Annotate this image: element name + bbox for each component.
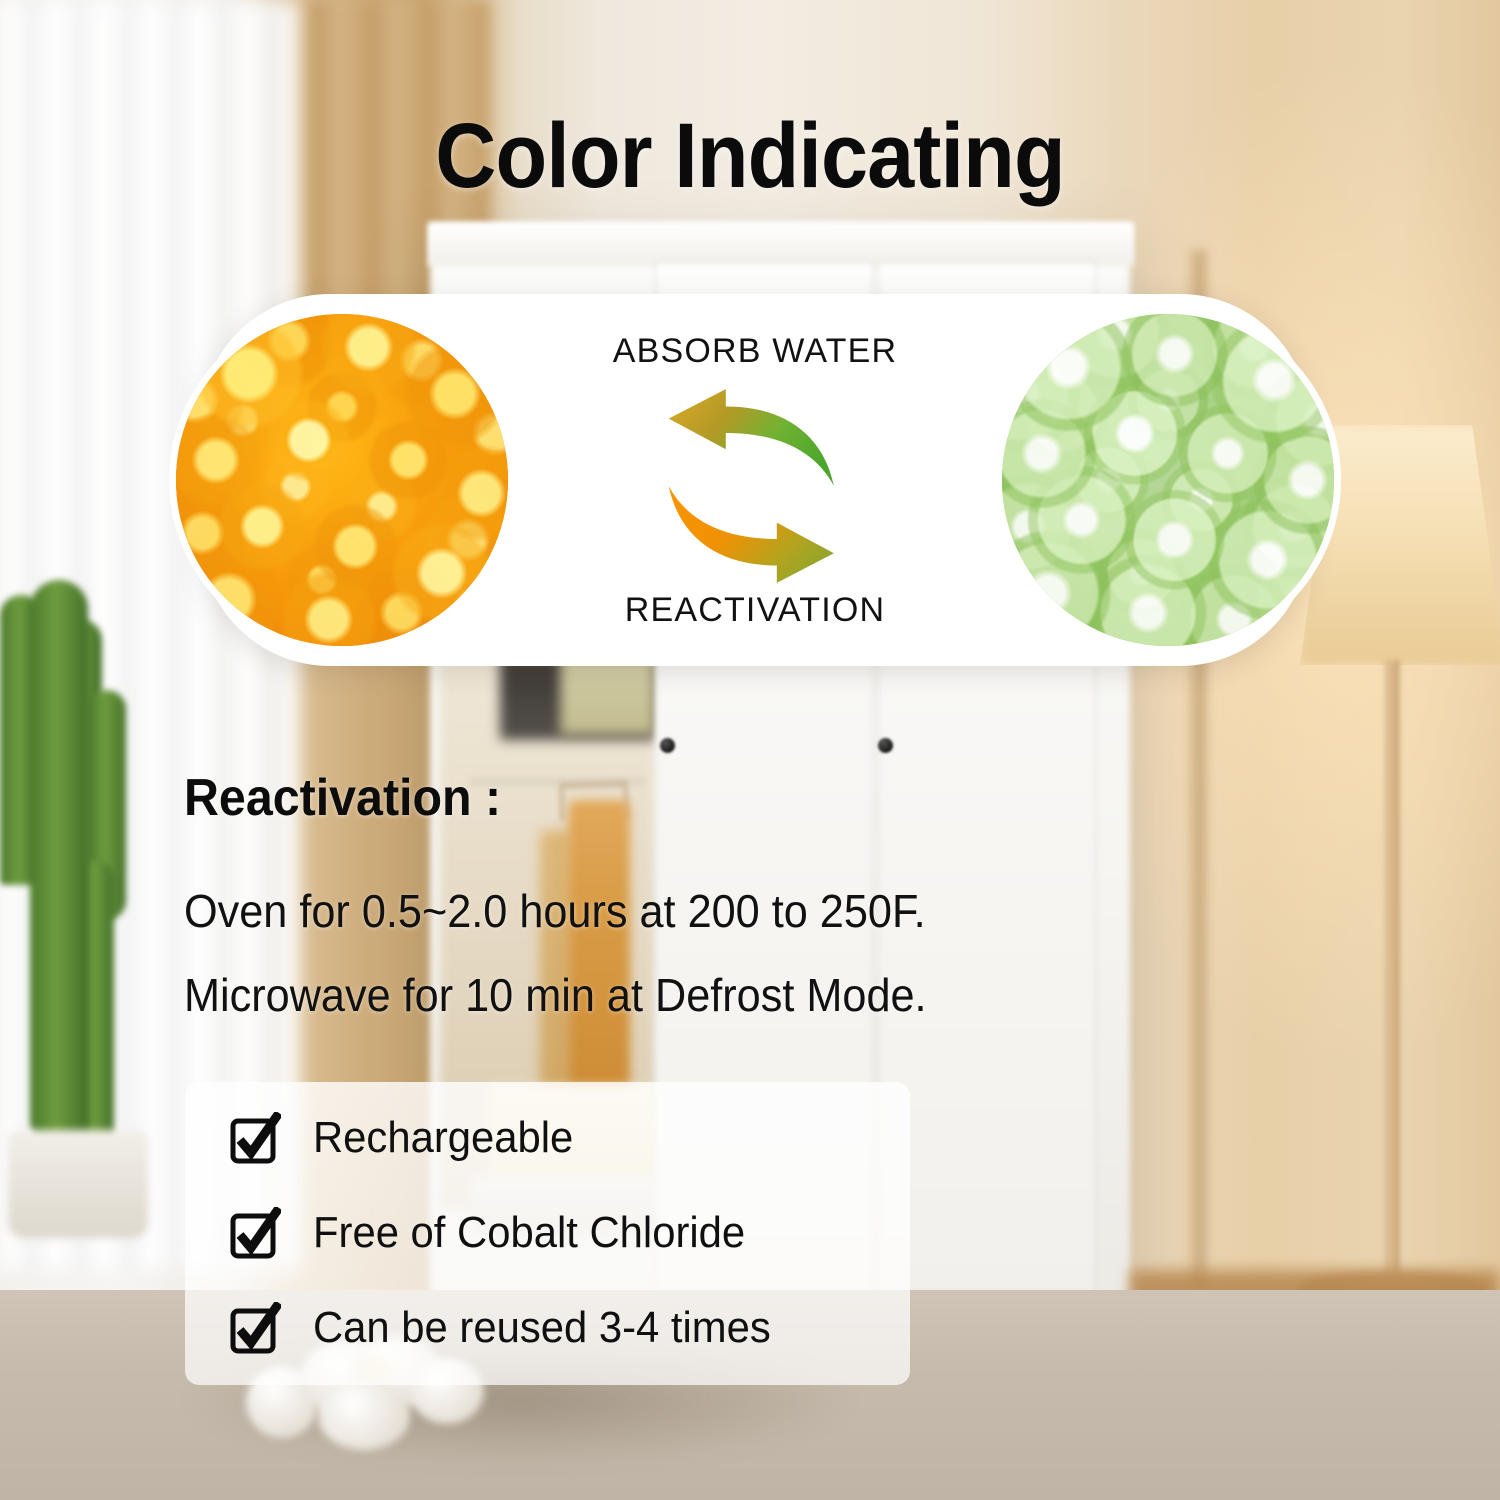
orange-silica-beads-icon: [176, 314, 508, 646]
feature-label: Rechargeable: [313, 1113, 573, 1163]
reactivation-heading: Reactivation :: [184, 768, 501, 828]
curved-arrow-right-icon: [669, 486, 834, 583]
orange-beads-circle: [176, 314, 508, 646]
floor-lamp-pole: [1386, 660, 1399, 1300]
wardrobe-knob-left: [660, 738, 675, 753]
reactivation-line-microwave: Microwave for 10 min at Defrost Mode.: [184, 968, 927, 1022]
reactivation-label: REACTIVATION: [625, 591, 886, 630]
reactivation-line-oven: Oven for 0.5~2.0 hours at 200 to 250F.: [184, 884, 926, 938]
checkbox-checked-icon: [229, 1302, 281, 1354]
curved-arrow-left-icon: [669, 389, 834, 486]
wardrobe-shelf-beige: [560, 655, 655, 735]
checkbox-checked-icon: [229, 1207, 281, 1259]
cactus-main-stem: [30, 580, 88, 1150]
cactus-pot: [8, 1130, 148, 1238]
wardrobe-knob-right: [878, 738, 893, 753]
feature-item-cobalt-free: Free of Cobalt Chloride: [229, 1207, 768, 1259]
feature-list-panel: Rechargeable Free of Cobalt Chloride Can…: [185, 1082, 910, 1385]
feature-label: Can be reused 3-4 times: [313, 1303, 771, 1353]
green-silica-beads-icon: [1002, 314, 1334, 646]
checkbox-checked-icon: [229, 1112, 281, 1164]
cycle-arrows: [640, 380, 870, 585]
page-title: Color Indicating: [60, 104, 1440, 209]
absorb-water-label: ABSORB WATER: [613, 332, 898, 371]
feature-item-reusable: Can be reused 3-4 times: [229, 1302, 795, 1354]
feature-item-rechargeable: Rechargeable: [229, 1112, 587, 1164]
decor-flower-petal: [318, 1382, 410, 1450]
wardrobe-top-trim: [428, 222, 1134, 266]
feature-label: Free of Cobalt Chloride: [313, 1208, 745, 1258]
color-indicating-banner: ABSORB WATER R: [200, 294, 1310, 666]
green-beads-circle: [1002, 314, 1334, 646]
